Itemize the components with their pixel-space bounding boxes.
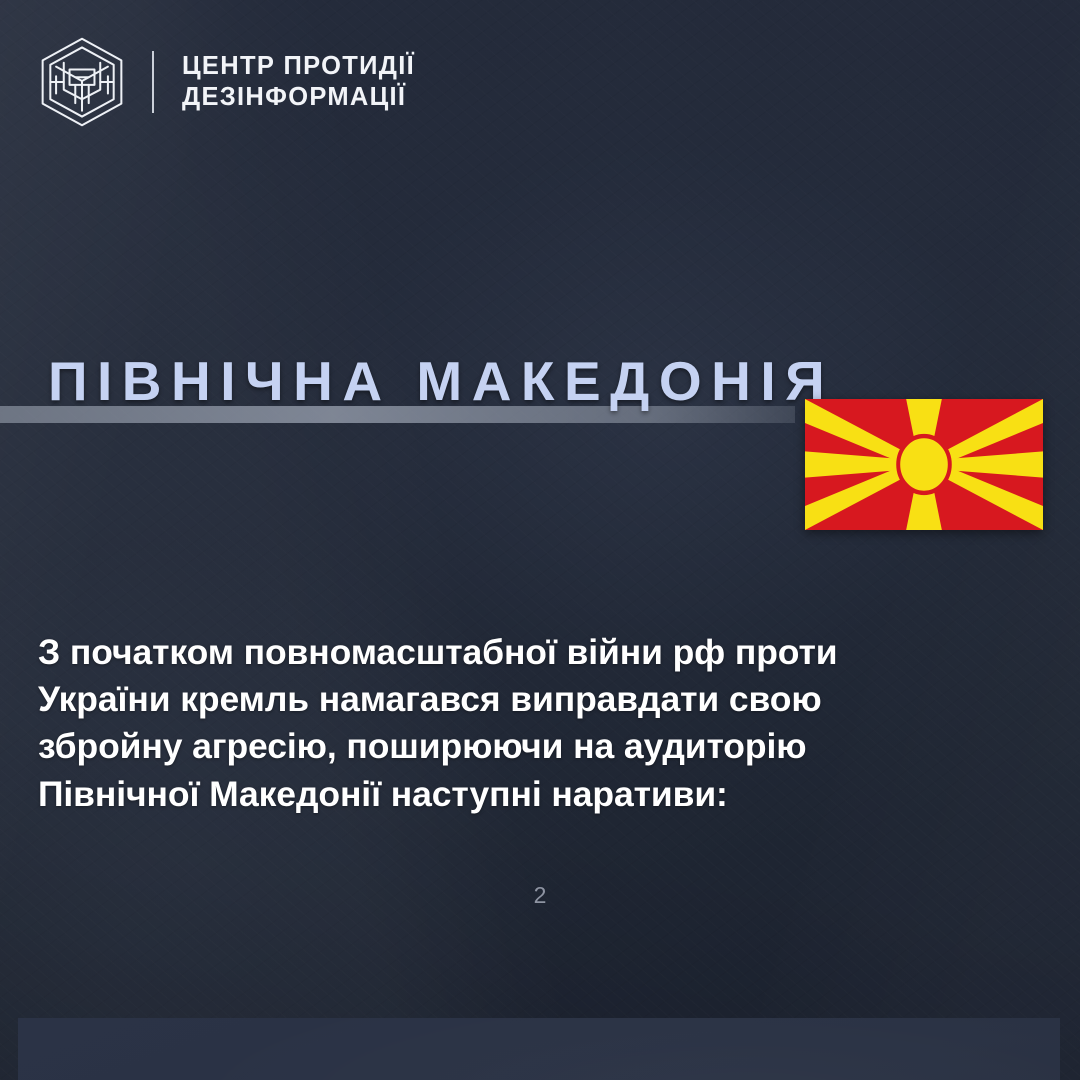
org-name: ЦЕНТР ПРОТИДІЇ ДЕЗІНФОРМАЦІЇ: [182, 51, 415, 112]
brand-header: ЦЕНТР ПРОТИДІЇ ДЕЗІНФОРМАЦІЇ: [34, 34, 1080, 130]
impossible-cube-logo-icon: [34, 34, 130, 130]
narratives-panel: [18, 1018, 1060, 1080]
slide-canvas: ЦЕНТР ПРОТИДІЇ ДЕЗІНФОРМАЦІЇ ПІВНІЧНА МА…: [0, 0, 1080, 1080]
intro-paragraph: З початком повномасштабної війни рф прот…: [38, 629, 973, 818]
header-divider: [152, 51, 154, 113]
page-number: 2: [0, 882, 1080, 909]
